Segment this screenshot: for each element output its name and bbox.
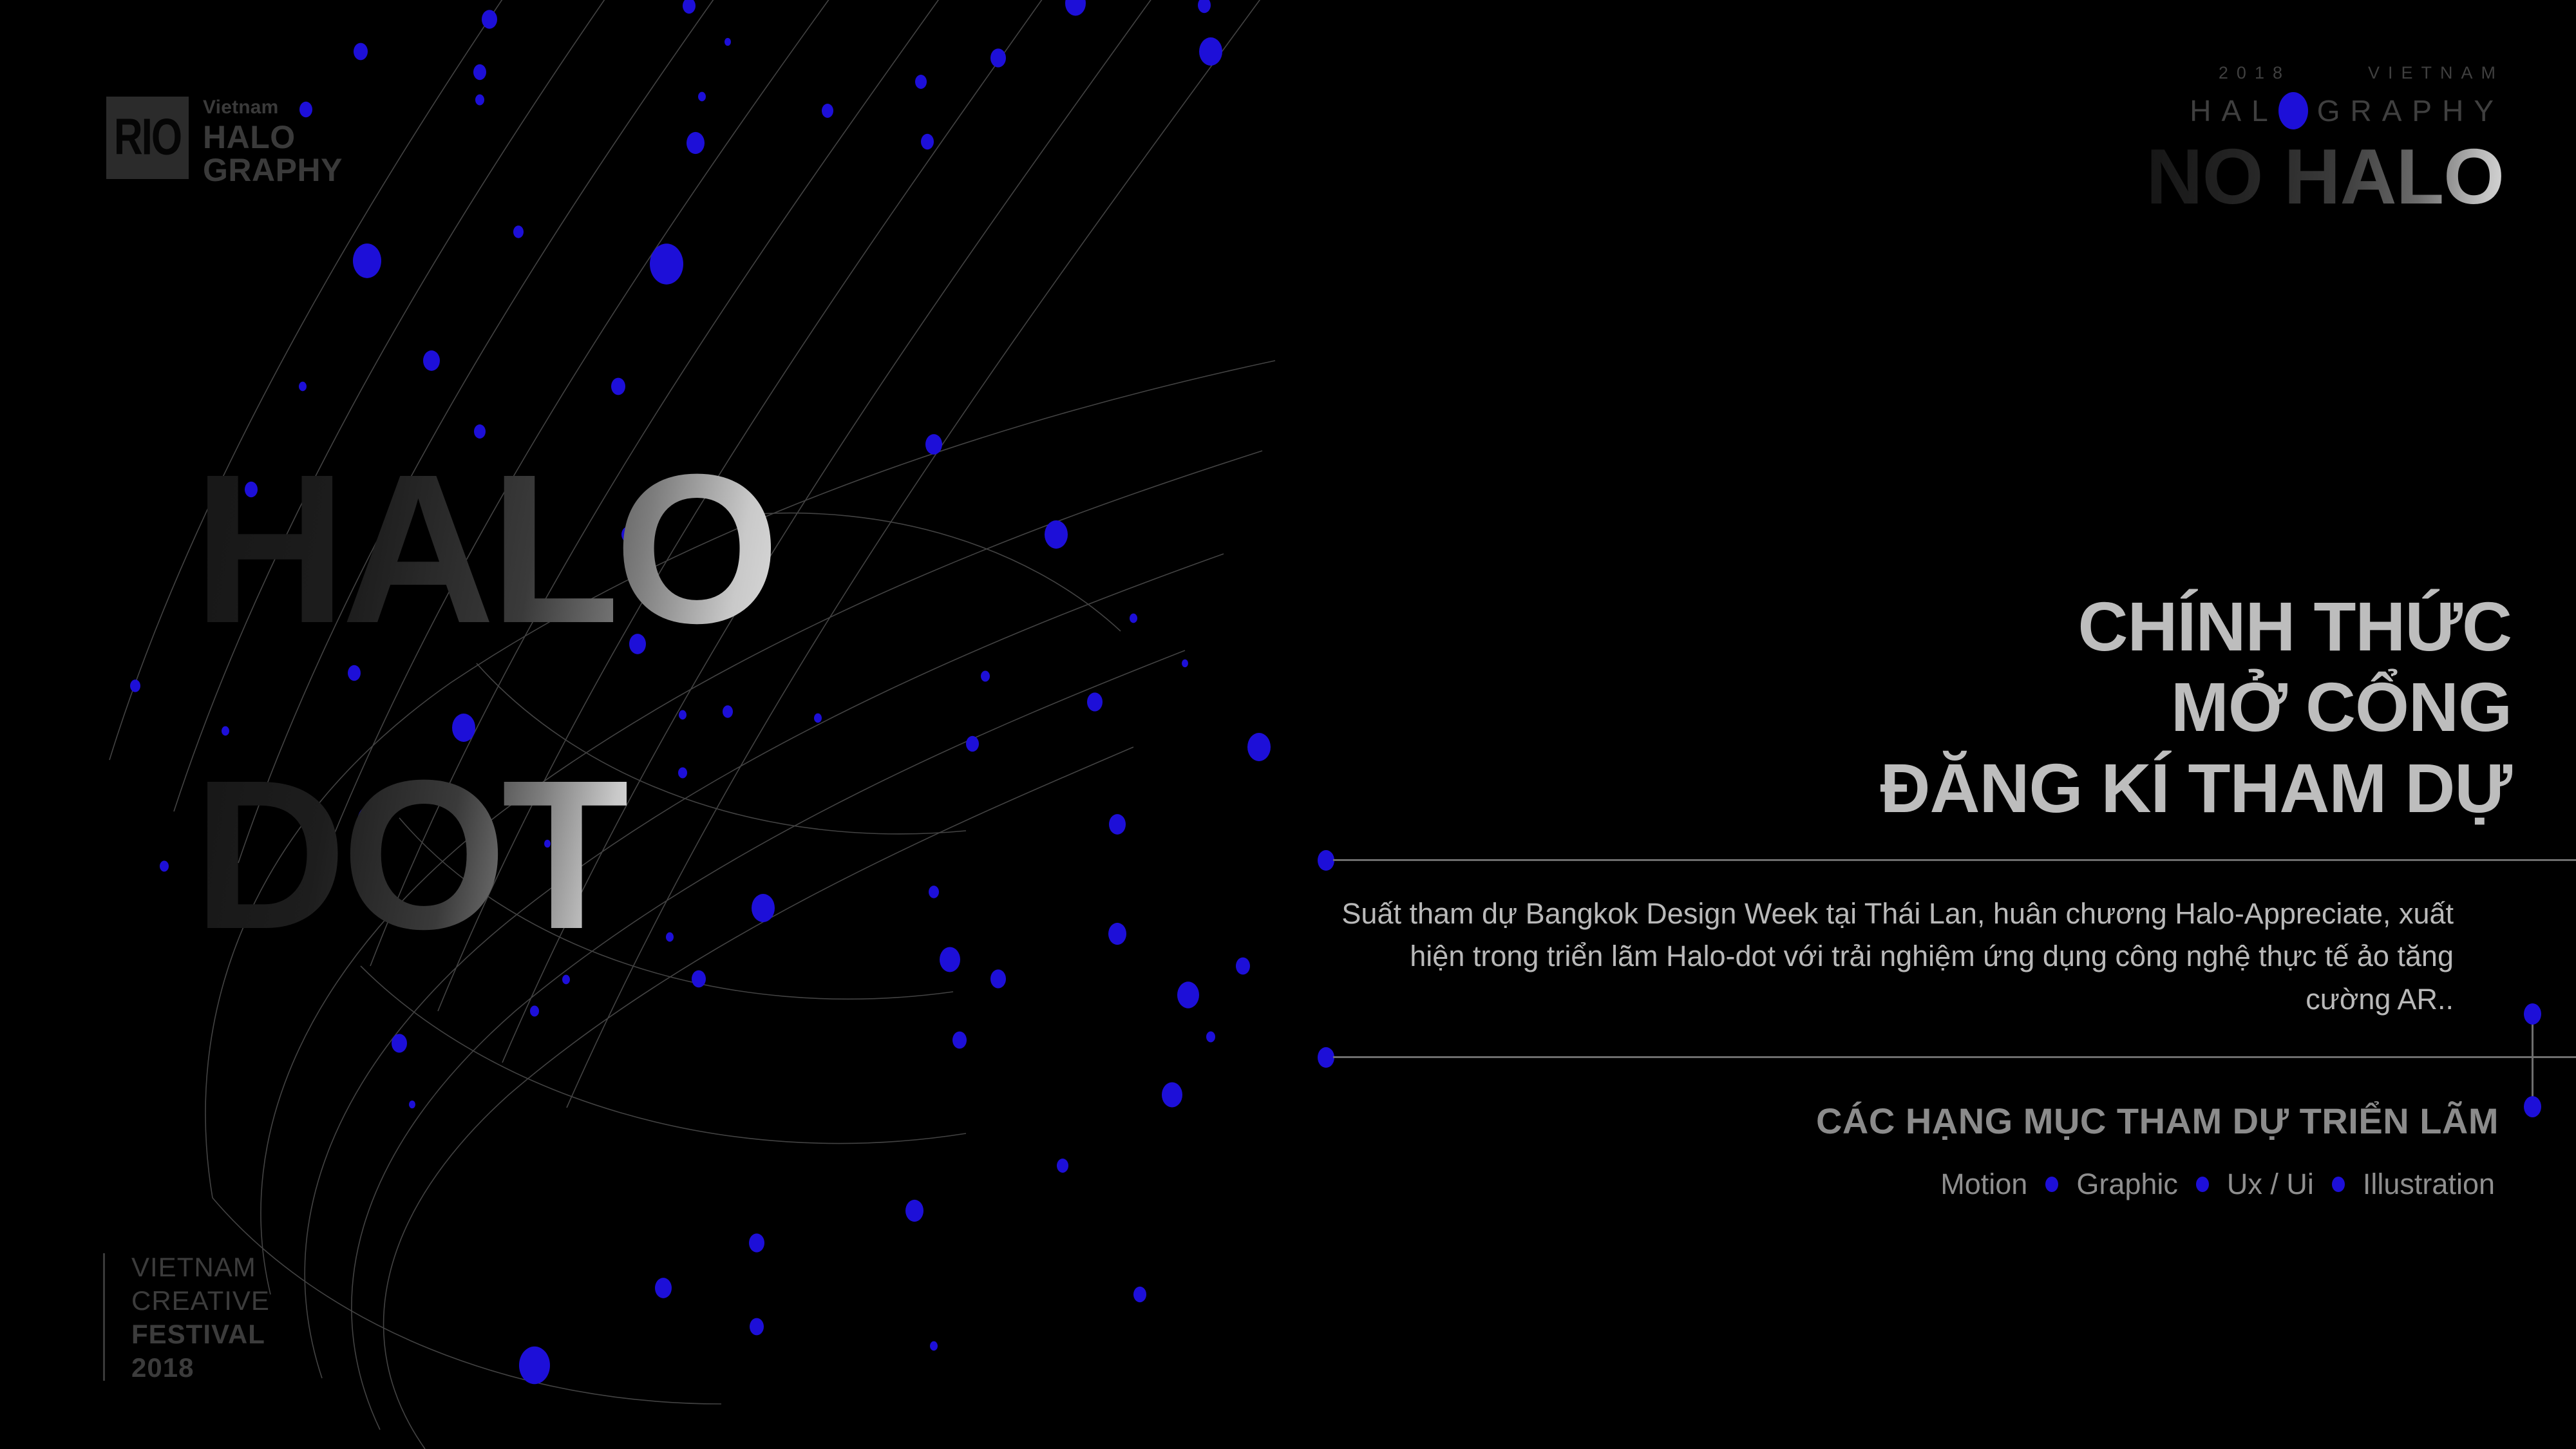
orbit-dot: [930, 1341, 938, 1351]
header-meta-row: 2018 VIETNAM: [2146, 63, 2504, 83]
orbit-dot: [1133, 1287, 1146, 1302]
orbit-dot: [1199, 37, 1222, 66]
orbit-dot: [1198, 0, 1211, 13]
orbit-dot: [966, 736, 979, 752]
orbit-dot: [687, 132, 705, 154]
orbit-dot: [1236, 958, 1250, 975]
logo-vietnam-label: Vietnam: [203, 98, 343, 117]
festival-line-1: VIETNAM: [131, 1251, 270, 1284]
header-right: 2018 VIETNAM HAL GRAPHY NO HALO: [2146, 63, 2504, 216]
orbit-dot: [698, 92, 706, 102]
festival-line-2: CREATIVE: [131, 1284, 270, 1318]
category-item: Illustration: [2363, 1168, 2495, 1201]
logo-graphy-label: GRAPHY: [203, 154, 343, 187]
category-item: Motion: [1940, 1168, 2027, 1201]
headline-line-2: MỞ CỔNG: [1333, 667, 2512, 747]
orbit-dot: [683, 0, 696, 14]
orbit-dot: [981, 670, 990, 681]
orbit-dot: [513, 225, 524, 238]
hero-word-dot: DOT: [193, 757, 627, 952]
headline: CHÍNH THỨC MỞ CỔNG ĐĂNG KÍ THAM DỰ: [1333, 586, 2512, 828]
orbit-arcs: [109, 0, 1288, 1449]
right-vertical-dot-icon: [2524, 1003, 2541, 1025]
headline-line-3: ĐĂNG KÍ THAM DỰ: [1333, 748, 2512, 828]
category-item: Graphic: [2076, 1168, 2178, 1201]
festival-credit: VIETNAM CREATIVE FESTIVAL 2018: [103, 1251, 270, 1385]
categories-title: CÁC HẠNG MỤC THAM DỰ TRIỂN LÃM: [1333, 1100, 2512, 1142]
orbit-dot: [724, 38, 731, 46]
orbit-dot: [692, 971, 706, 988]
orbit-dot: [611, 378, 625, 395]
orbit-dot: [1247, 733, 1271, 761]
rio-logo-mark: RIO: [106, 97, 189, 179]
bullet-dot-icon: [2332, 1177, 2345, 1192]
orbit-dot: [666, 933, 674, 942]
orbit-dot: [1108, 923, 1126, 945]
header-wordmark-part2: GRAPHY: [2317, 93, 2504, 128]
orbit-dot: [222, 726, 229, 736]
divider-dot-icon: [1318, 1047, 1334, 1068]
orbit-dot: [990, 48, 1006, 67]
divider-dot-icon: [1318, 850, 1334, 871]
right-vertical-line: [2532, 1014, 2533, 1108]
orbit-dot: [750, 1318, 764, 1336]
orbit-dot: [929, 885, 939, 898]
orbit-dot: [1109, 814, 1126, 835]
orbit-dot: [940, 947, 960, 972]
announcement-block: CHÍNH THỨC MỞ CỔNG ĐĂNG KÍ THAM DỰ Suất …: [1333, 586, 2512, 1201]
divider-line: [1333, 1056, 2576, 1058]
headline-line-1: CHÍNH THỨC: [1333, 586, 2512, 667]
header-wordmark-part1: HAL: [2190, 93, 2278, 128]
orbit-dot: [905, 1200, 923, 1222]
header-country: VIETNAM: [2368, 63, 2504, 83]
orbit-dot: [679, 710, 687, 720]
orbit-dot: [409, 1101, 415, 1108]
orbit-dot: [650, 243, 683, 284]
categories-list: Motion Graphic Ux / Ui Illustration: [1333, 1168, 2512, 1201]
orbit-dot: [1130, 614, 1137, 623]
orbit-dot: [353, 243, 381, 278]
orbit-dot: [822, 104, 833, 118]
orbit-dot: [475, 94, 484, 105]
orbit-dot: [678, 767, 687, 778]
orbit-dots: [130, 0, 1271, 1384]
bullet-dot-icon: [2196, 1177, 2209, 1192]
poster-canvas: RIO Vietnam HALO GRAPHY HALO DOT 2018 VI…: [0, 0, 2576, 1449]
orbit-dot: [530, 1005, 539, 1016]
orbit-dot: [915, 75, 927, 89]
logo-wordmark: Vietnam HALO GRAPHY: [203, 97, 343, 187]
orbit-dot: [655, 1278, 672, 1298]
orbit-dot: [354, 43, 368, 61]
blue-dot-icon: [2278, 92, 2308, 129]
orbit-dot: [723, 705, 733, 718]
orbit-dot: [752, 894, 775, 922]
rio-halography-logo: RIO Vietnam HALO GRAPHY: [106, 97, 343, 187]
divider-line: [1333, 859, 2576, 861]
announcement-paragraph: Suất tham dự Bangkok Design Week tại Thá…: [1333, 893, 2512, 1021]
orbit-dot: [921, 134, 934, 149]
orbit-dot: [1057, 1159, 1068, 1173]
header-wordmark: HAL GRAPHY: [2146, 92, 2504, 129]
header-no-halo-title: NO HALO: [2146, 137, 2504, 216]
orbit-dot: [990, 969, 1006, 988]
orbit-dot: [348, 665, 361, 681]
orbit-dot: [1045, 520, 1068, 549]
orbit-dot: [473, 64, 486, 80]
hero-word-halo: HALO: [193, 451, 775, 647]
orbit-dot: [392, 1034, 407, 1052]
orbit-dot: [814, 714, 822, 723]
festival-line-4: 2018: [131, 1351, 270, 1385]
orbit-dot: [749, 1233, 764, 1252]
category-item: Ux / Ui: [2227, 1168, 2314, 1201]
orbit-dot: [160, 860, 169, 871]
orbit-arc: [213, 1198, 721, 1404]
orbit-dot: [952, 1032, 967, 1049]
orbit-dot: [1087, 692, 1103, 711]
orbit-dot: [1206, 1031, 1215, 1042]
header-year: 2018: [2219, 63, 2291, 83]
orbit-dot: [1162, 1082, 1182, 1107]
logo-halo-label: HALO: [203, 121, 343, 154]
orbit-dot: [1177, 981, 1199, 1008]
right-vertical-dot-icon: [2524, 1096, 2541, 1117]
orbit-arc: [361, 966, 966, 1143]
festival-line-3: FESTIVAL: [131, 1318, 270, 1351]
orbit-dot: [1065, 0, 1086, 16]
divider-bottom: [1333, 1055, 2512, 1059]
orbit-dot: [482, 10, 497, 28]
orbit-dot: [562, 975, 570, 985]
rio-logo-text: RIO: [114, 112, 181, 163]
bullet-dot-icon: [2045, 1177, 2058, 1192]
orbit-dot: [423, 350, 440, 371]
orbit-dot: [299, 382, 307, 392]
orbit-dot: [130, 679, 140, 692]
orbit-dot: [1182, 659, 1188, 667]
orbit-dot: [519, 1347, 550, 1385]
divider-top: [1333, 858, 2512, 862]
orbit-dot: [925, 434, 942, 455]
